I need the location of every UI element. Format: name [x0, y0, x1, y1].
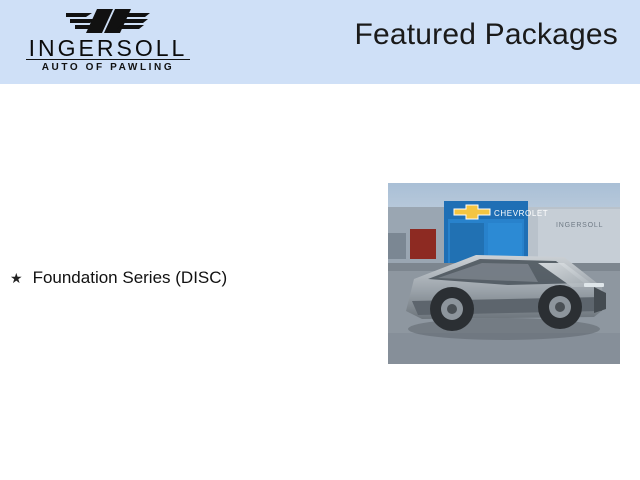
- svg-text:CHEVROLET: CHEVROLET: [494, 209, 548, 218]
- star-bullet-icon: ★: [10, 271, 23, 285]
- logo-subtitle: AUTO OF PAWLING: [8, 62, 208, 73]
- slide: Featured Packages INGERSOLL AUTO OF PAWL…: [0, 0, 640, 480]
- page-title: Featured Packages: [354, 18, 618, 52]
- logo-name: INGERSOLL: [8, 35, 208, 62]
- vehicle-photo: CHEVROLET INGERSOLL: [388, 183, 620, 364]
- list-item-label: Foundation Series (DISC): [33, 268, 228, 288]
- brand-logo: INGERSOLL AUTO OF PAWLING: [8, 5, 208, 81]
- list-item: ★ Foundation Series (DISC): [10, 268, 227, 288]
- ingersoll-chevron-mark-icon: [66, 7, 150, 35]
- svg-text:INGERSOLL: INGERSOLL: [556, 222, 603, 229]
